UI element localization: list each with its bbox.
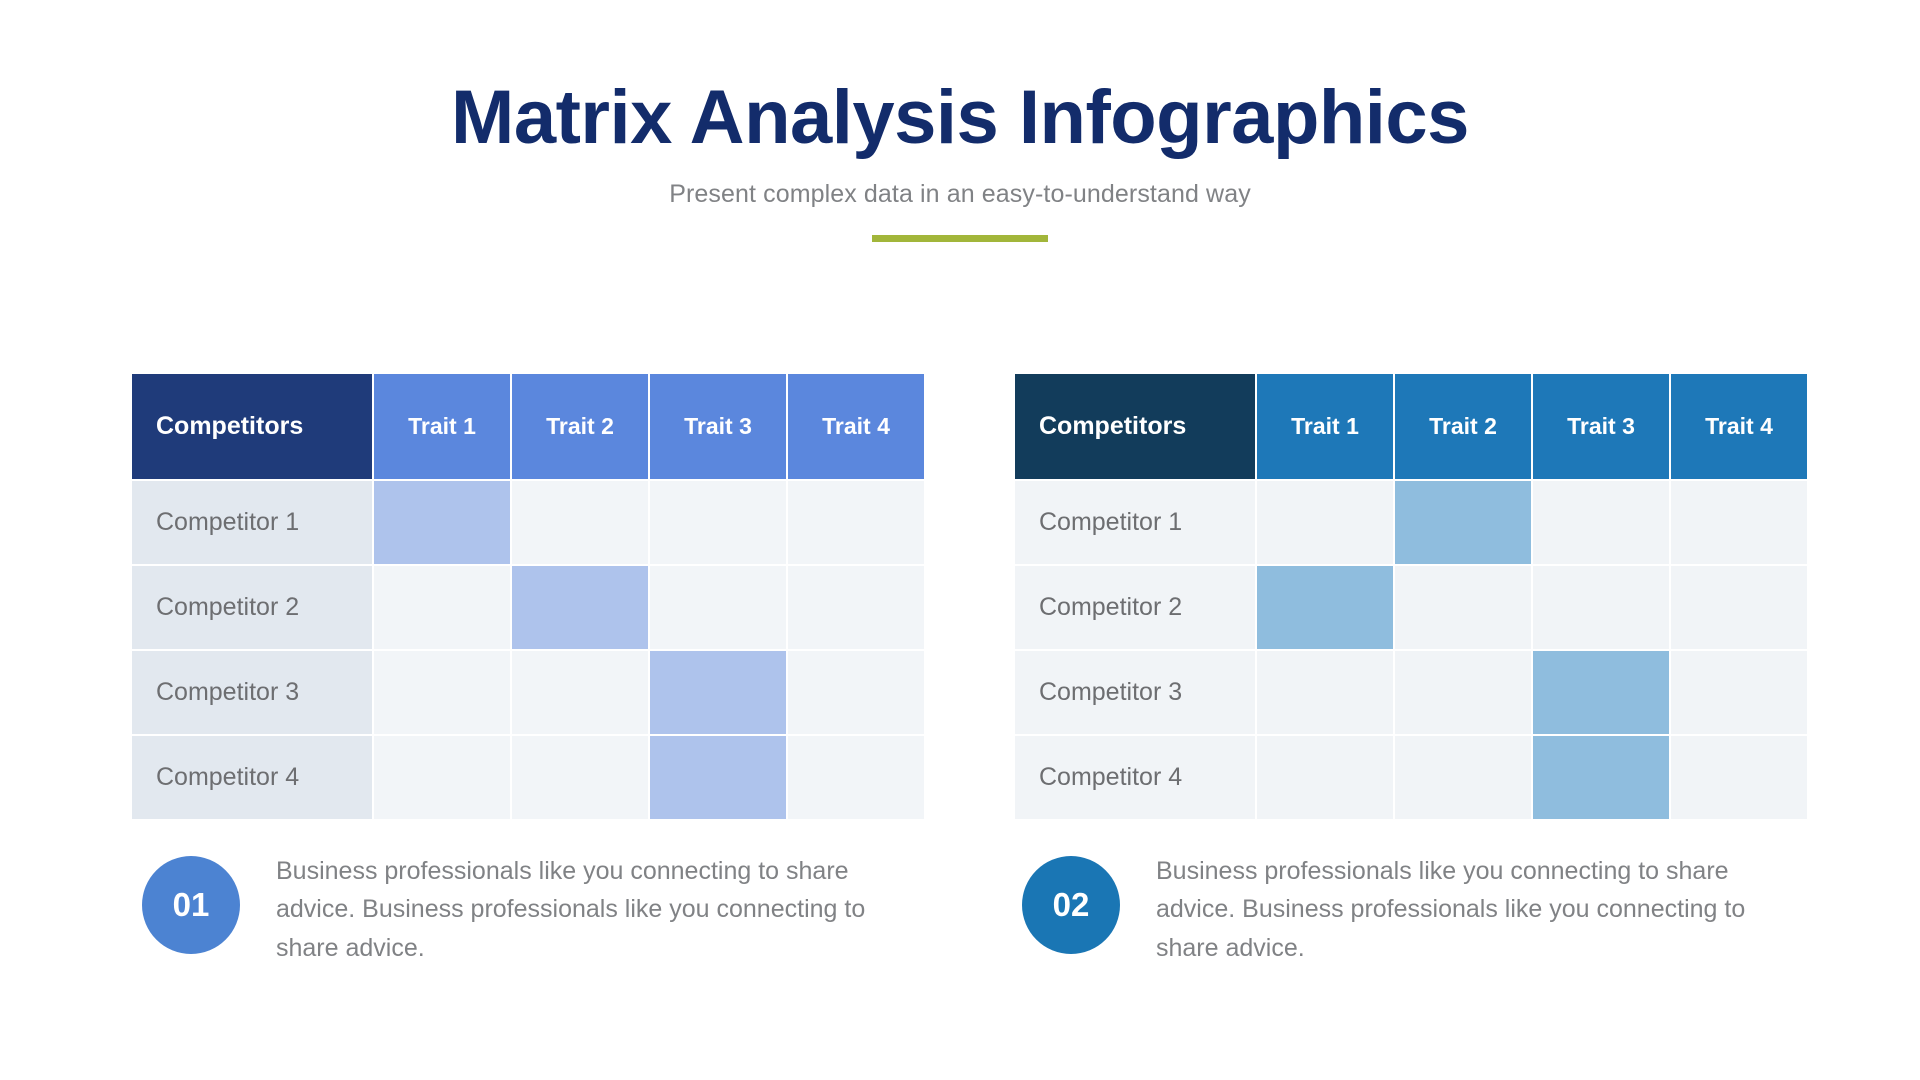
matrix-cell[interactable] <box>512 736 648 819</box>
footnote-text-01: Business professionals like you connecti… <box>276 852 876 967</box>
step-badge-02: 02 <box>1022 856 1120 954</box>
row-label: Competitor 1 <box>1015 481 1255 564</box>
matrix-cell[interactable] <box>1257 736 1393 819</box>
header-trait-2: Trait 2 <box>1395 374 1531 479</box>
matrix-cell[interactable] <box>650 566 786 649</box>
matrix-cell[interactable] <box>788 736 924 819</box>
header-trait-4: Trait 4 <box>1671 374 1807 479</box>
row-label: Competitor 4 <box>1015 736 1255 819</box>
table-row: Competitor 4 <box>132 736 924 819</box>
header-competitors: Competitors <box>1015 374 1255 479</box>
matrix-cell[interactable] <box>1257 566 1393 649</box>
slide-canvas: Matrix Analysis Infographics Present com… <box>0 0 1920 1080</box>
matrix-cell[interactable] <box>1671 481 1807 564</box>
matrix-cell[interactable] <box>512 566 648 649</box>
table-row: Competitor 4 <box>1015 736 1807 819</box>
matrix-cell[interactable] <box>1671 651 1807 734</box>
matrix-table-02: Competitors Trait 1 Trait 2 Trait 3 Trai… <box>1013 372 1809 821</box>
table-row: Competitor 3 <box>132 651 924 734</box>
matrix-body: Competitor 1 Competitor 2 Competitor 3 <box>1015 481 1807 819</box>
row-label: Competitor 3 <box>1015 651 1255 734</box>
matrix-cell[interactable] <box>1257 481 1393 564</box>
header-trait-1: Trait 1 <box>374 374 510 479</box>
matrix-cell[interactable] <box>1671 736 1807 819</box>
matrix-cell[interactable] <box>788 481 924 564</box>
matrix-cell[interactable] <box>650 651 786 734</box>
step-badge-01: 01 <box>142 856 240 954</box>
row-label: Competitor 3 <box>132 651 372 734</box>
matrix-panel-01: Competitors Trait 1 Trait 2 Trait 3 Trai… <box>130 372 920 821</box>
matrix-cell[interactable] <box>374 481 510 564</box>
footnote-text-02: Business professionals like you connecti… <box>1156 852 1756 967</box>
matrix-cell[interactable] <box>1533 736 1669 819</box>
matrix-cell[interactable] <box>1395 651 1531 734</box>
table-row: Competitor 1 <box>132 481 924 564</box>
table-row: Competitor 3 <box>1015 651 1807 734</box>
header-trait-4: Trait 4 <box>788 374 924 479</box>
row-label: Competitor 2 <box>1015 566 1255 649</box>
footnote-02: 02 Business professionals like you conne… <box>1022 852 1792 967</box>
matrix-cell[interactable] <box>512 651 648 734</box>
matrix-cell[interactable] <box>1671 566 1807 649</box>
table-row: Competitor 1 <box>1015 481 1807 564</box>
table-row: Competitor 2 <box>132 566 924 649</box>
matrix-cell[interactable] <box>1395 566 1531 649</box>
header-trait-3: Trait 3 <box>1533 374 1669 479</box>
matrix-cell[interactable] <box>1395 736 1531 819</box>
row-label: Competitor 2 <box>132 566 372 649</box>
matrix-cell[interactable] <box>788 651 924 734</box>
matrix-body: Competitor 1 Competitor 2 Competitor 3 <box>132 481 924 819</box>
matrix-header-row: Competitors Trait 1 Trait 2 Trait 3 Trai… <box>1015 374 1807 479</box>
page-subtitle: Present complex data in an easy-to-under… <box>0 180 1920 209</box>
header-trait-1: Trait 1 <box>1257 374 1393 479</box>
header-trait-3: Trait 3 <box>650 374 786 479</box>
matrix-cell[interactable] <box>374 566 510 649</box>
row-label: Competitor 4 <box>132 736 372 819</box>
matrix-cell[interactable] <box>650 736 786 819</box>
accent-divider <box>872 235 1048 242</box>
matrix-cell[interactable] <box>1533 566 1669 649</box>
header-competitors: Competitors <box>132 374 372 479</box>
matrix-cell[interactable] <box>1257 651 1393 734</box>
slide-header: Matrix Analysis Infographics Present com… <box>0 78 1920 242</box>
matrix-panel-02: Competitors Trait 1 Trait 2 Trait 3 Trai… <box>1013 372 1805 821</box>
matrix-cell[interactable] <box>1395 481 1531 564</box>
matrix-cell[interactable] <box>1533 651 1669 734</box>
matrix-cell[interactable] <box>788 566 924 649</box>
matrix-cell[interactable] <box>512 481 648 564</box>
page-title: Matrix Analysis Infographics <box>0 78 1920 158</box>
row-label: Competitor 1 <box>132 481 372 564</box>
matrix-cell[interactable] <box>374 736 510 819</box>
header-trait-2: Trait 2 <box>512 374 648 479</box>
matrix-cell[interactable] <box>374 651 510 734</box>
matrix-header-row: Competitors Trait 1 Trait 2 Trait 3 Trai… <box>132 374 924 479</box>
footnote-01: 01 Business professionals like you conne… <box>142 852 902 967</box>
matrix-table-01: Competitors Trait 1 Trait 2 Trait 3 Trai… <box>130 372 926 821</box>
table-row: Competitor 2 <box>1015 566 1807 649</box>
matrix-cell[interactable] <box>1533 481 1669 564</box>
matrix-cell[interactable] <box>650 481 786 564</box>
